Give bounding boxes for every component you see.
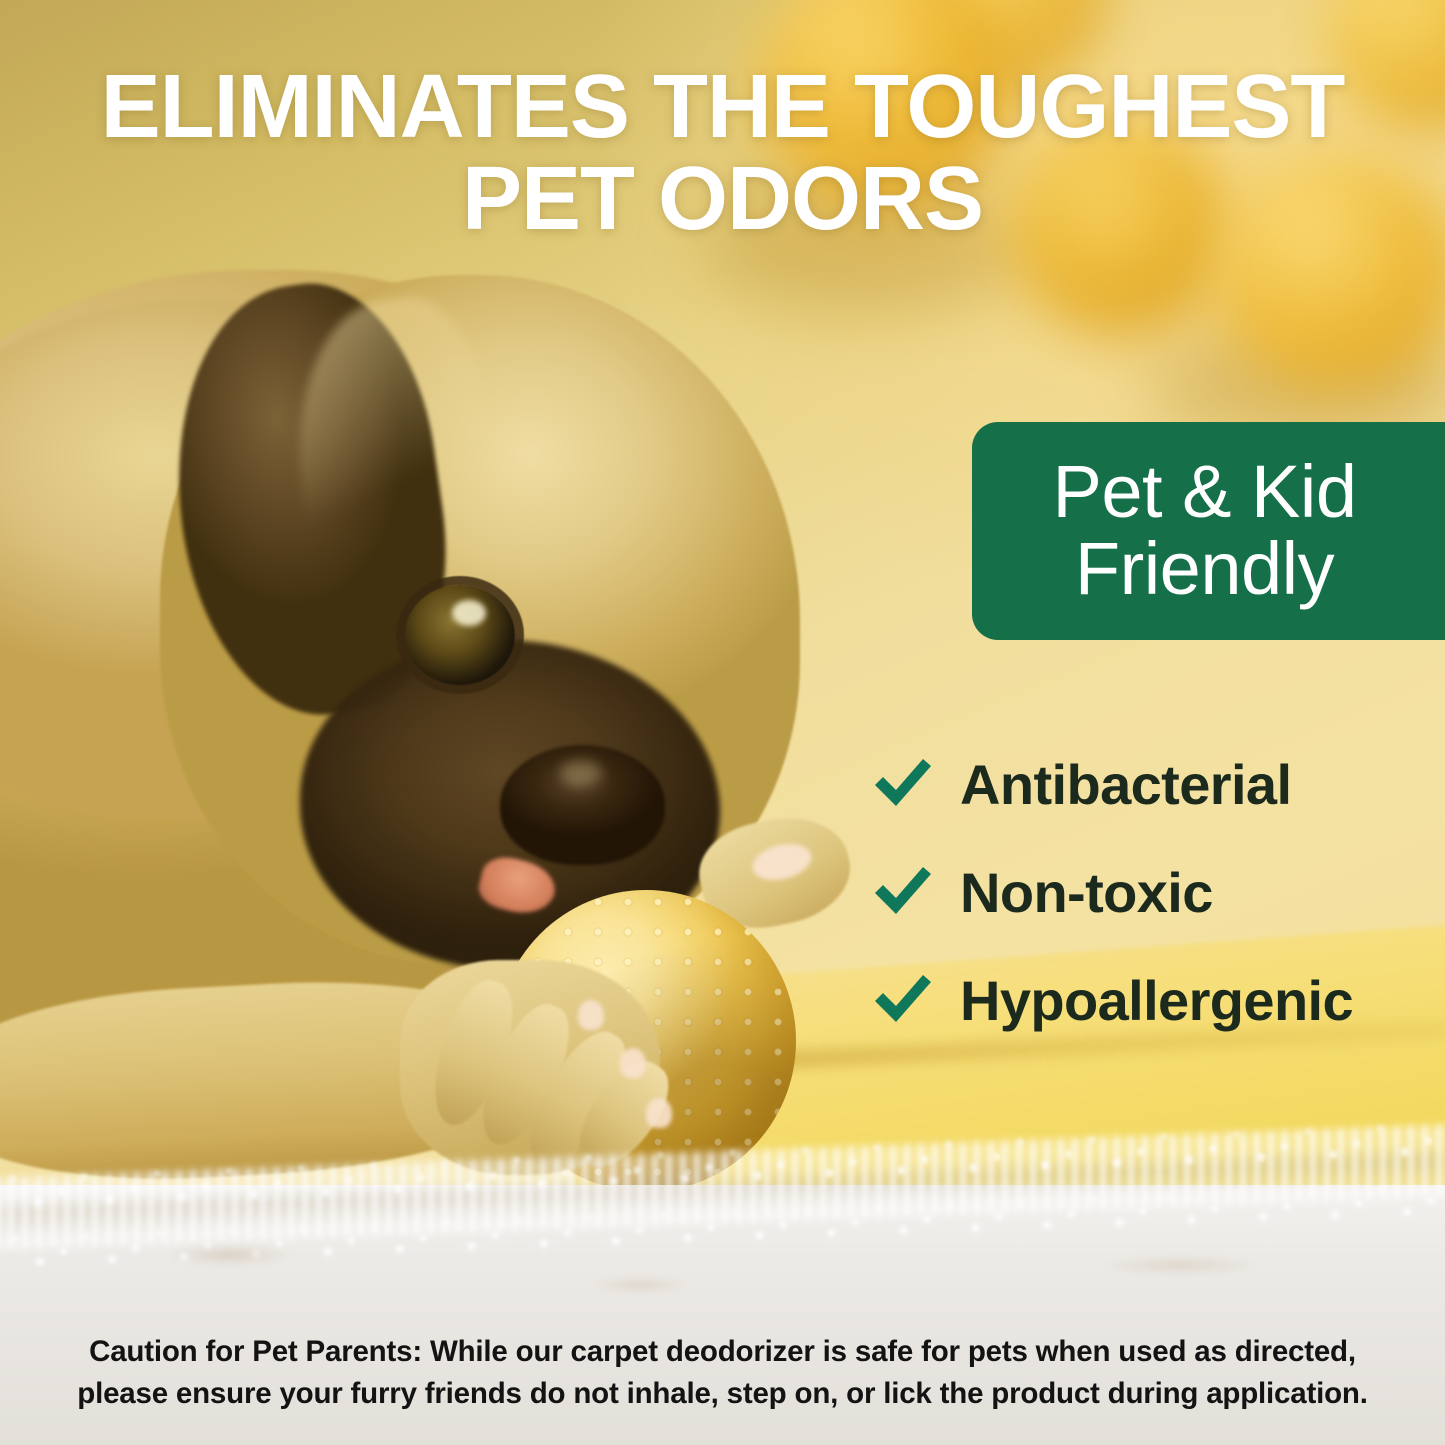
carpet-stains [0, 1215, 1445, 1335]
caution-line-2: please ensure your furry friends do not … [46, 1373, 1399, 1415]
dog-claw [620, 1048, 646, 1078]
badge-line-2: Friendly [1052, 531, 1356, 608]
feature-label: Antibacterial [960, 752, 1291, 817]
headline: ELIMINATES THE TOUGHEST PET ODORS [0, 62, 1445, 246]
dog-eye [405, 585, 515, 685]
badge-text: Pet & Kid Friendly [1052, 454, 1356, 608]
pet-kid-friendly-badge: Pet & Kid Friendly [972, 422, 1445, 640]
caution-note: Caution for Pet Parents: While our carpe… [0, 1331, 1445, 1415]
dog-claw [646, 1098, 672, 1128]
dog-nose-highlight [560, 760, 602, 786]
dog-eye-highlight [452, 600, 486, 626]
check-icon [872, 973, 934, 1027]
feature-label: Non-toxic [960, 860, 1213, 925]
feature-item-hypoallergenic: Hypoallergenic [872, 946, 1432, 1054]
feature-item-antibacterial: Antibacterial [872, 730, 1432, 838]
headline-line-2: PET ODORS [44, 154, 1401, 246]
check-icon [872, 865, 934, 919]
product-infographic: ELIMINATES THE TOUGHEST PET ODORS Pet & … [0, 0, 1445, 1445]
headline-line-1: ELIMINATES THE TOUGHEST [44, 62, 1401, 154]
caution-line-1: Caution for Pet Parents: While our carpe… [46, 1331, 1399, 1373]
feature-list: Antibacterial Non-toxic Hypoallergenic [872, 730, 1432, 1054]
badge-line-1: Pet & Kid [1052, 454, 1356, 531]
check-icon [872, 757, 934, 811]
feature-item-non-toxic: Non-toxic [872, 838, 1432, 946]
dog-claw [578, 1000, 604, 1030]
feature-label: Hypoallergenic [960, 968, 1353, 1033]
